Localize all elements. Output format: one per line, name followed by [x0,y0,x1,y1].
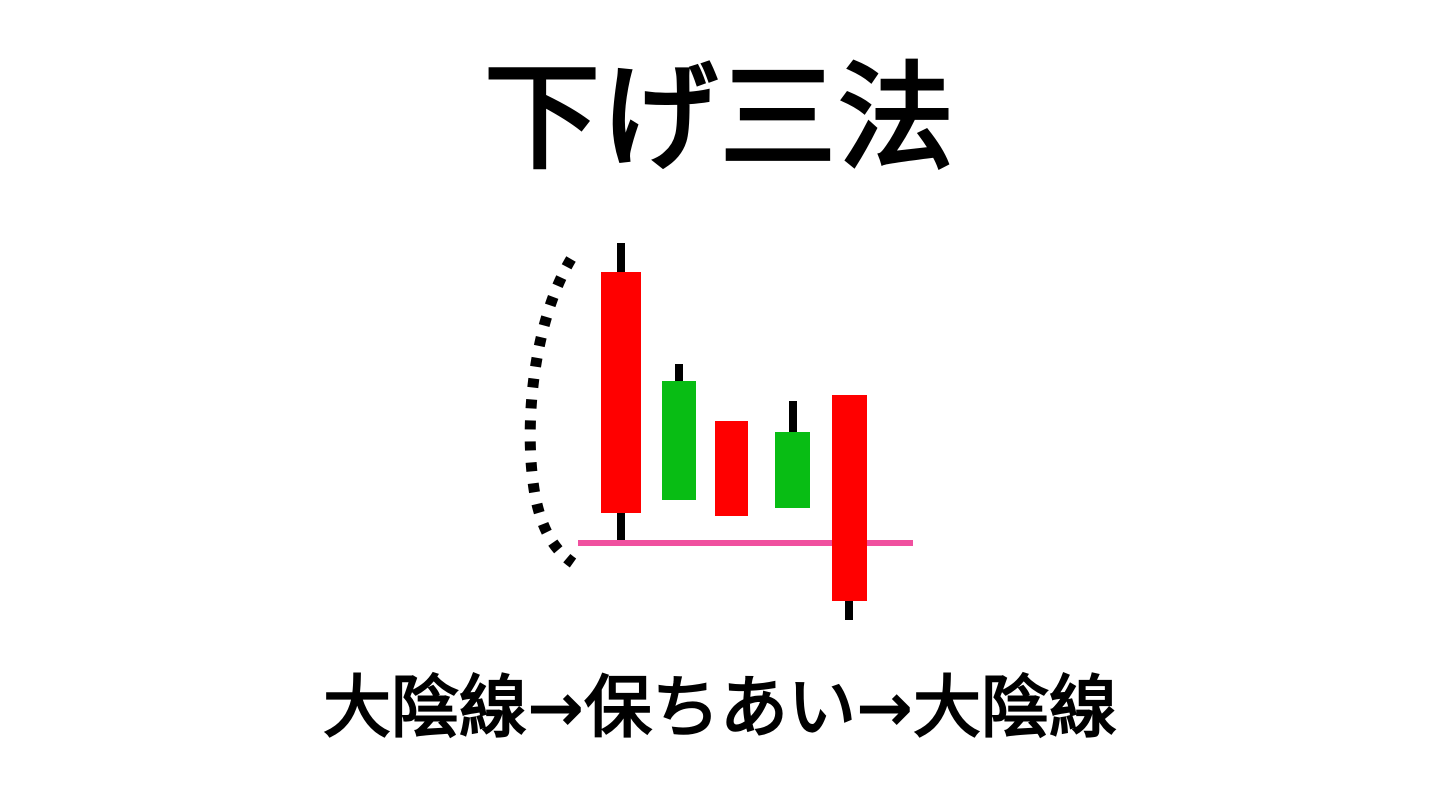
pattern-caption: 大陰線→保ちあい→大陰線 [0,668,1440,750]
candle-3-body [715,421,748,516]
candle-2-body [662,381,696,500]
candle-4-body [775,432,810,508]
pattern-illustration: 下げ三法 大陰線→保ちあい→大陰線 [0,0,1440,805]
candle-5-body [832,395,867,601]
pattern-bracket-icon [505,245,595,575]
candle-1-body [601,272,641,513]
